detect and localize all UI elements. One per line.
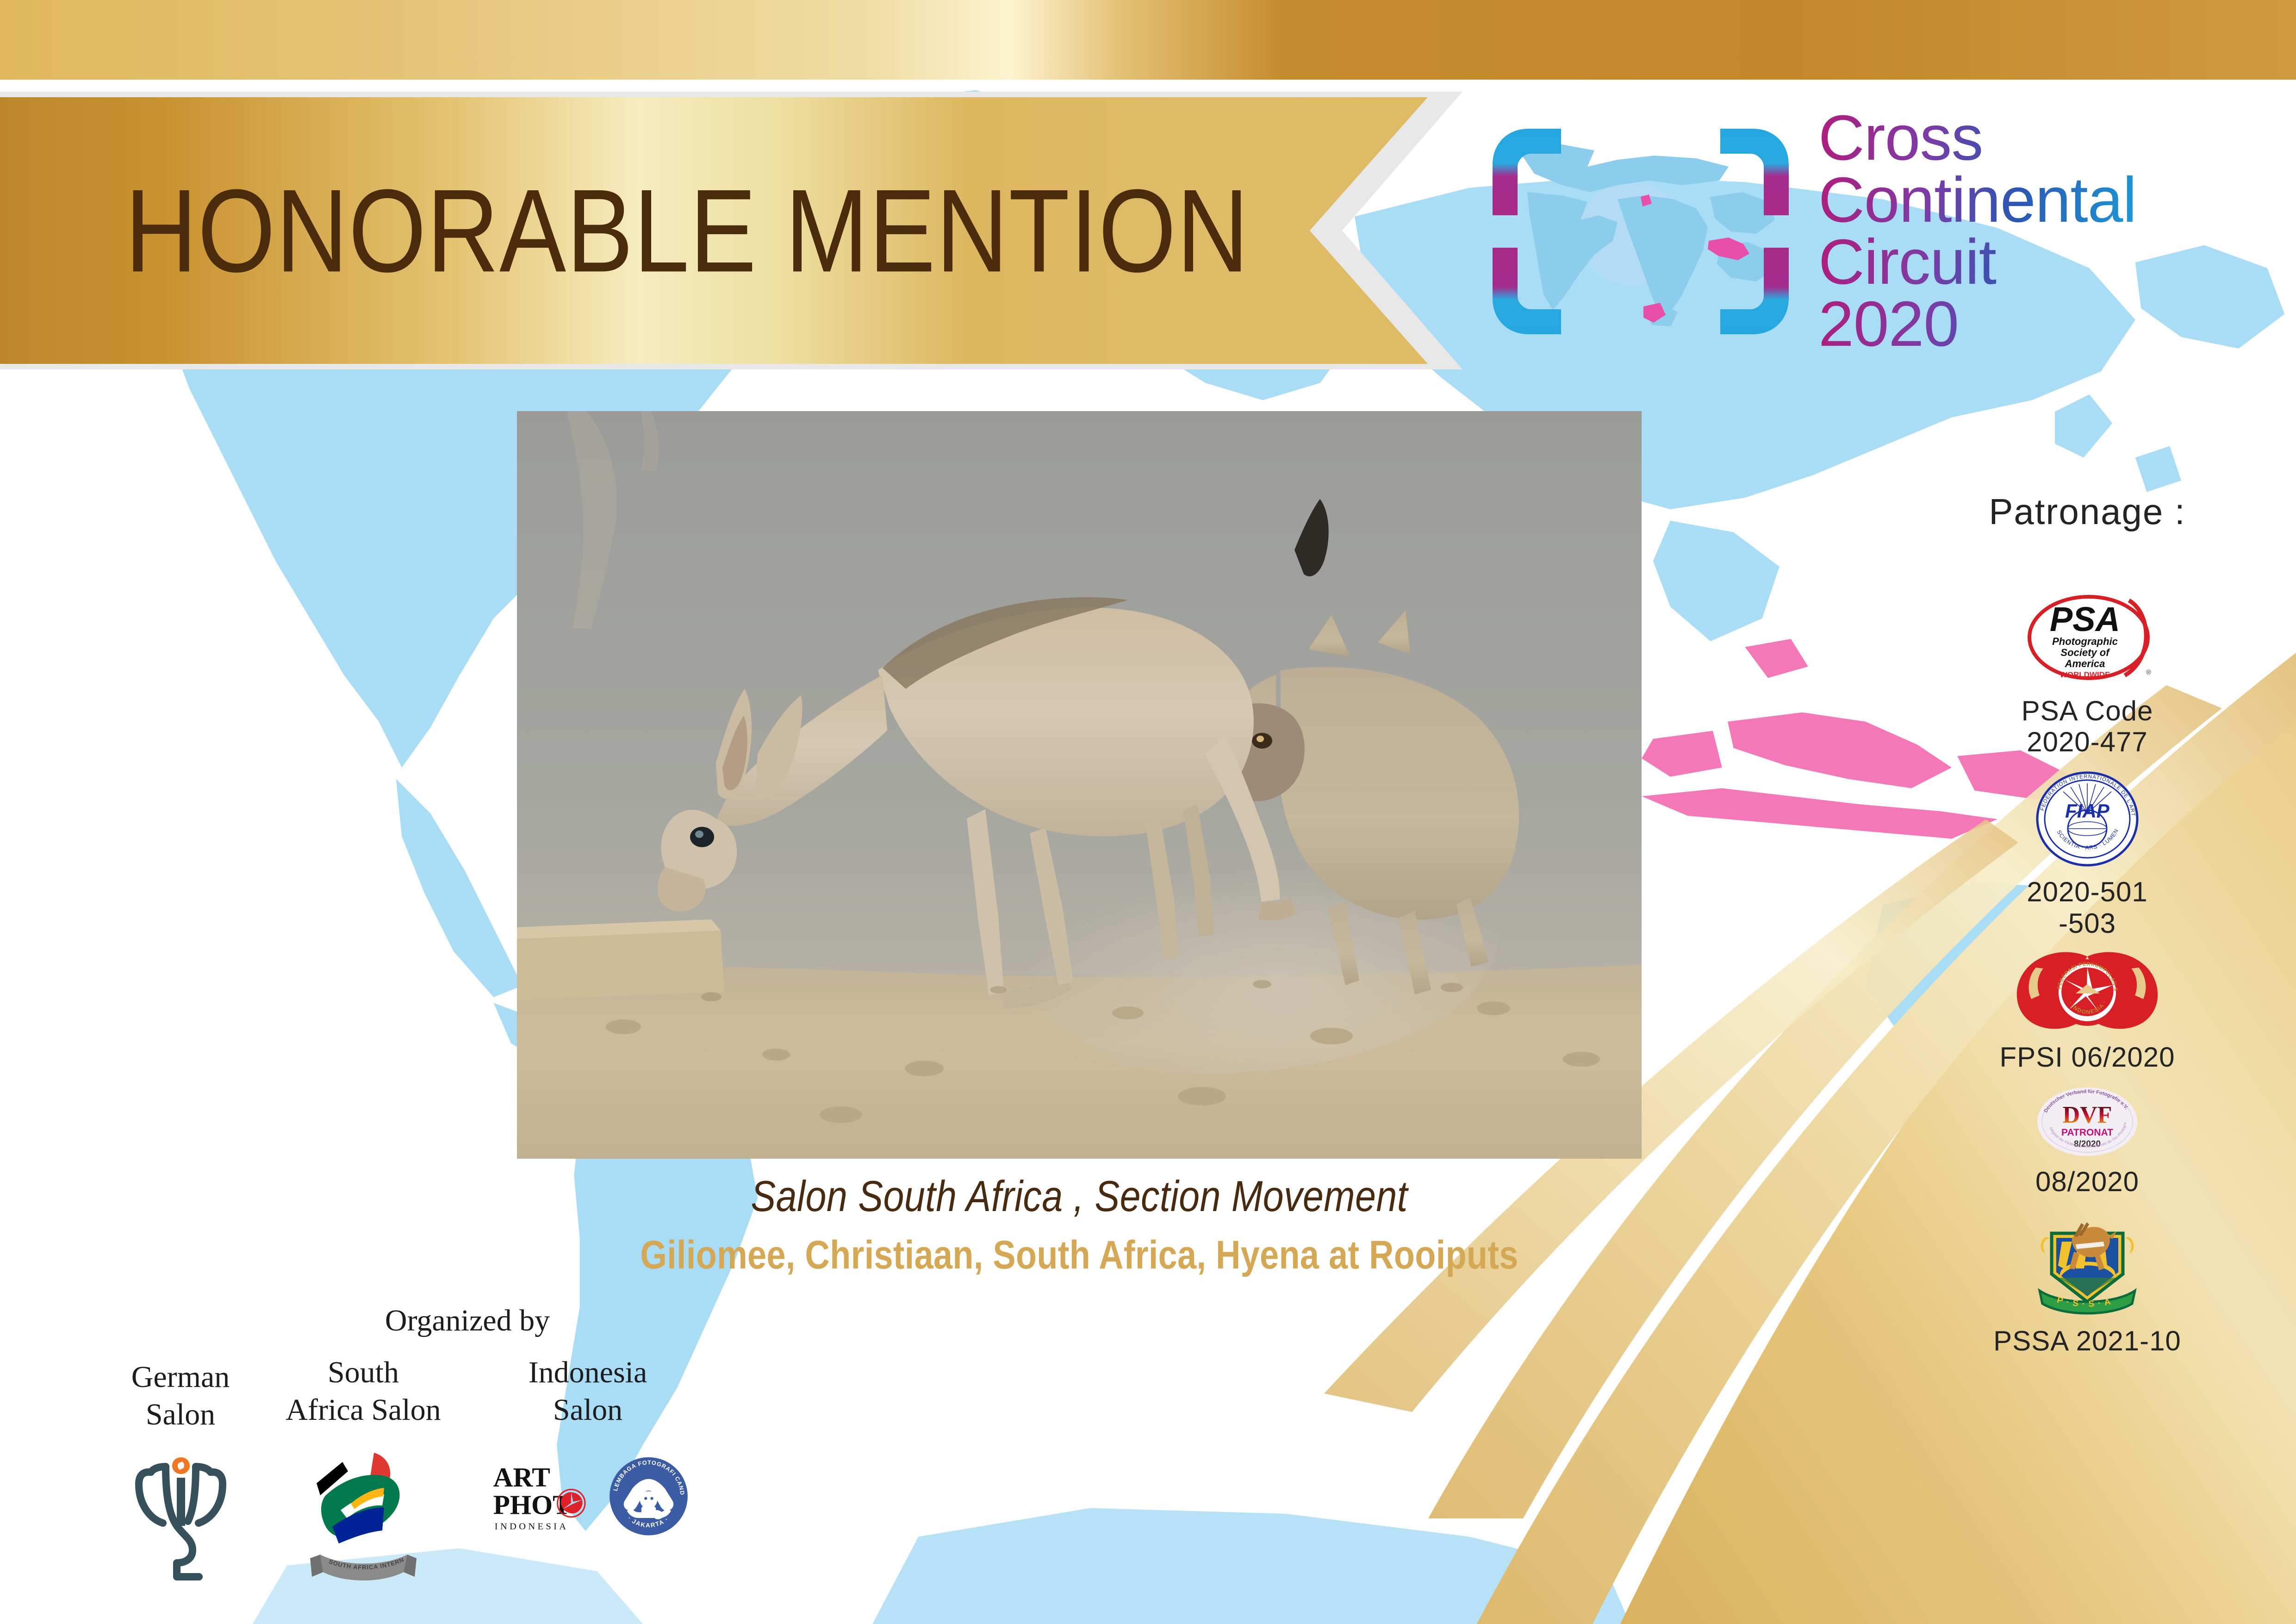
art-photo-indonesia-logo: ART PHOT INDONESIA (486, 1450, 594, 1543)
svg-text:PSA: PSA (2050, 600, 2120, 638)
patronage-item-psa: PSA Photographic Society of America WORL… (1939, 588, 2235, 757)
top-gold-strip (0, 0, 2296, 80)
svg-text:PHOT: PHOT (493, 1489, 571, 1520)
patronage-item-dvf: DVF PATRONAT 8/2020 Deutscher Verband fü… (1939, 1085, 2235, 1197)
award-banner: HONORABLE MENTION (0, 92, 1462, 369)
svg-text:Society of: Society of (2060, 647, 2110, 658)
organizer-indonesia-salon: Indonesia Salon ART PHOT (486, 1354, 690, 1549)
indonesia-salon-logos: ART PHOT INDONESIA (486, 1444, 690, 1549)
svg-text:ART: ART (493, 1462, 550, 1493)
fpsi-logo: FEDERASI PERKUMPULAN SENI FOTO · INDONES… (1939, 951, 2235, 1034)
svg-text:INDONESIA: INDONESIA (495, 1521, 569, 1531)
event-name: Cross Continental Circuit 2020 (1818, 107, 2136, 355)
award-title: HONORABLE MENTION (125, 162, 1249, 299)
south-africa-salon-label: South Africa Salon (264, 1354, 463, 1429)
indonesia-salon-label: Indonesia Salon (486, 1354, 690, 1429)
svg-text:®: ® (2146, 668, 2151, 676)
svg-text:Photographic: Photographic (2052, 636, 2118, 647)
south-africa-salon-flag-logo: SOUTH AFRICA INTERNATIONAL SALON (264, 1444, 463, 1583)
svg-text:DVF: DVF (2062, 1102, 2112, 1128)
fiap-code-label: 2020-501 -503 (1939, 876, 2235, 938)
fiap-logo: FIAP FEDERATION INTERNATIONALE DE L'ART … (1939, 769, 2235, 869)
patronage-item-fiap: FIAP FEDERATION INTERNATIONALE DE L'ART … (1939, 769, 2235, 938)
photo-caption: Salon South Africa , Section Movement Gi… (517, 1171, 1642, 1278)
dvf-logo: DVF PATRONAT 8/2020 Deutscher Verband fü… (1939, 1085, 2235, 1159)
entry-title-label: Giliomee, Christiaan, South Africa, Hyen… (596, 1232, 1563, 1278)
german-salon-label: German Salon (88, 1359, 273, 1433)
patronage-title: Patronage : (1939, 491, 2235, 533)
svg-text:PATRONAT: PATRONAT (2061, 1127, 2113, 1138)
salon-section-label: Salon South Africa , Section Movement (596, 1171, 1563, 1221)
svg-text:WORLDWIDE: WORLDWIDE (2060, 670, 2110, 679)
event-logo: Cross Continental Circuit 2020 (1479, 111, 2265, 352)
pssa-code-label: PSSA 2021-10 (1939, 1325, 2235, 1356)
award-photo (517, 411, 1642, 1159)
organizer-south-africa-salon: South Africa Salon SOUTH AFRICA INTERNAT (264, 1354, 463, 1583)
organizer-row: German Salon (88, 1329, 981, 1624)
event-name-line-2: Continental (1818, 169, 2136, 231)
camera-bracket-frame-icon (1479, 116, 1803, 347)
svg-text:FIAP: FIAP (2065, 800, 2110, 822)
patronage-item-pssa: P·S·S·A PSSA 2021-10 (1939, 1209, 2235, 1356)
certificate-canvas: HONORABLE MENTION (0, 0, 2296, 1624)
banner-ribbon: HONORABLE MENTION (0, 97, 1428, 364)
svg-text:America: America (2065, 658, 2105, 669)
pssa-logo: P·S·S·A (1939, 1209, 2235, 1318)
german-salon-trophy-logo (88, 1449, 273, 1588)
patronage-section: Patronage : PSA Photographic Society of … (1939, 491, 2235, 1368)
event-name-line-4: 2020 (1818, 294, 2136, 356)
lembaga-fotografi-candra-naya-logo: LEMBAGA FOTOGRAFI CANDRA NAYA · JAKARTA … (608, 1444, 690, 1549)
event-name-line-1: Cross (1818, 107, 2136, 169)
organizer-german-salon: German Salon (88, 1359, 273, 1588)
event-name-line-3: Circuit (1818, 231, 2136, 294)
psa-logo: PSA Photographic Society of America WORL… (1939, 588, 2235, 688)
psa-code-label: PSA Code 2020-477 (1939, 695, 2235, 757)
dvf-code-label: 08/2020 (1939, 1166, 2235, 1197)
patronage-item-fpsi: FEDERASI PERKUMPULAN SENI FOTO · INDONES… (1939, 951, 2235, 1073)
fpsi-code-label: FPSI 06/2020 (1939, 1042, 2235, 1073)
